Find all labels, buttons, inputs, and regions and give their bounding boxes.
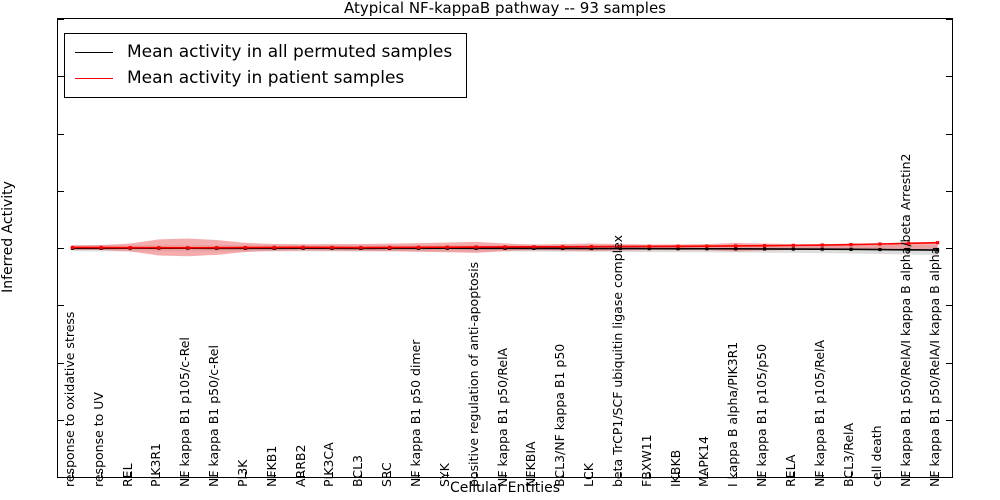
x-tick-label: beta TrCP1/SCF ubiquitin ligase complex	[611, 235, 624, 487]
series-marker	[763, 244, 766, 247]
series-marker	[417, 246, 420, 249]
series-marker	[302, 246, 305, 249]
series-marker	[763, 247, 766, 250]
series-marker	[475, 245, 478, 248]
x-tick-label: REL	[121, 463, 134, 487]
series-marker	[792, 247, 795, 250]
y-tick-mark	[58, 305, 64, 306]
series-marker	[878, 248, 881, 251]
series-marker	[157, 246, 160, 249]
x-tick-label: RELA	[784, 455, 797, 487]
series-marker	[244, 246, 247, 249]
x-tick-label: NF kappa B1 p50/RelA/I kappa B alpha/bet…	[899, 154, 912, 488]
y-tick-mark	[946, 305, 952, 306]
series-marker	[705, 245, 708, 248]
series-marker	[330, 246, 333, 249]
series-marker	[821, 248, 824, 251]
series-marker	[273, 246, 276, 249]
series-marker	[186, 246, 189, 249]
x-tick-label: NF kappa B1 p105/RelA	[813, 340, 826, 487]
series-marker	[388, 246, 391, 249]
series-marker	[676, 245, 679, 248]
series-marker	[821, 243, 824, 246]
x-tick-label: I kappa B alpha/PIK3R1	[726, 342, 739, 487]
series-marker	[849, 243, 852, 246]
x-tick-label: NFKB1	[265, 446, 278, 487]
y-axis-label: Inferred Activity	[0, 7, 16, 467]
x-tick-label: LCK	[582, 463, 595, 487]
x-tick-label: SRC	[380, 462, 393, 487]
x-tick-label: BCL3/NF kappa B1 p50	[553, 344, 566, 487]
series-marker	[734, 247, 737, 250]
series-marker	[532, 245, 535, 248]
y-tick-mark	[946, 19, 952, 20]
series-marker	[590, 245, 593, 248]
x-tick-label: PIK3CA	[322, 442, 335, 487]
y-tick-mark	[946, 134, 952, 135]
y-tick-mark	[946, 248, 952, 249]
y-tick-mark	[58, 248, 64, 249]
series-marker	[878, 242, 881, 245]
x-tick-label: PI3K	[236, 460, 249, 487]
x-tick-label: response to UV	[92, 392, 105, 487]
x-tick-label: NF kappa B1 p50/RelA	[496, 348, 509, 487]
y-tick-mark	[946, 76, 952, 77]
series-marker	[503, 245, 506, 248]
legend-item: Mean activity in patient samples	[75, 65, 452, 91]
x-tick-label: ARRB2	[294, 445, 307, 487]
legend-item: Mean activity in all permuted samples	[75, 39, 452, 65]
series-marker	[446, 246, 449, 249]
y-tick-mark	[946, 420, 952, 421]
series-marker	[561, 245, 564, 248]
y-tick-mark	[946, 363, 952, 364]
x-tick-label: SYK	[438, 463, 451, 487]
x-tick-label: response to oxidative stress	[63, 312, 76, 487]
x-tick-label: BCL3	[351, 455, 364, 487]
series-marker	[936, 241, 939, 244]
y-tick-mark	[946, 191, 952, 192]
legend-swatch-permuted	[75, 52, 113, 53]
x-tick-label: cell death	[870, 425, 883, 487]
chart-figure: Atypical NF-kappaB pathway -- 93 samples…	[0, 0, 1000, 500]
series-marker	[100, 246, 103, 249]
series-marker	[734, 244, 737, 247]
x-tick-label: NF kappa B1 p50/c-Rel	[207, 345, 220, 487]
series-marker	[129, 246, 132, 249]
series-marker	[849, 248, 852, 251]
x-tick-label: positive regulation of anti-apoptosis	[467, 262, 480, 487]
x-tick-label: IKBKB	[669, 450, 682, 487]
x-tick-label: NF kappa B1 p50/RelA/I kappa B alpha	[928, 247, 941, 487]
y-tick-mark	[58, 191, 64, 192]
series-marker	[648, 245, 651, 248]
y-tick-mark	[58, 19, 64, 20]
series-marker	[359, 246, 362, 249]
legend-swatch-patient	[75, 78, 113, 79]
x-tick-label: NF kappa B1 p105/p50	[755, 344, 768, 487]
x-tick-label: BCL3/RelA	[842, 423, 855, 487]
x-tick-label: MAPK14	[697, 436, 710, 487]
chart-legend: Mean activity in all permuted samples Me…	[64, 33, 467, 98]
legend-label-patient: Mean activity in patient samples	[127, 68, 404, 88]
x-tick-label: FBXW11	[640, 434, 653, 487]
y-tick-mark	[58, 134, 64, 135]
x-tick-label: NF kappa B1 p105/c-Rel	[178, 337, 191, 487]
x-tick-label: PIK3R1	[149, 443, 162, 487]
x-tick-label: NF kappa B1 p50 dimer	[409, 340, 422, 487]
chart-title: Atypical NF-kappaB pathway -- 93 samples	[57, 0, 953, 18]
y-tick-mark	[946, 477, 952, 478]
series-marker	[792, 244, 795, 247]
x-tick-label: NFKBIA	[524, 441, 537, 487]
series-marker	[71, 246, 74, 249]
legend-label-permuted: Mean activity in all permuted samples	[127, 42, 452, 62]
series-marker	[215, 246, 218, 249]
